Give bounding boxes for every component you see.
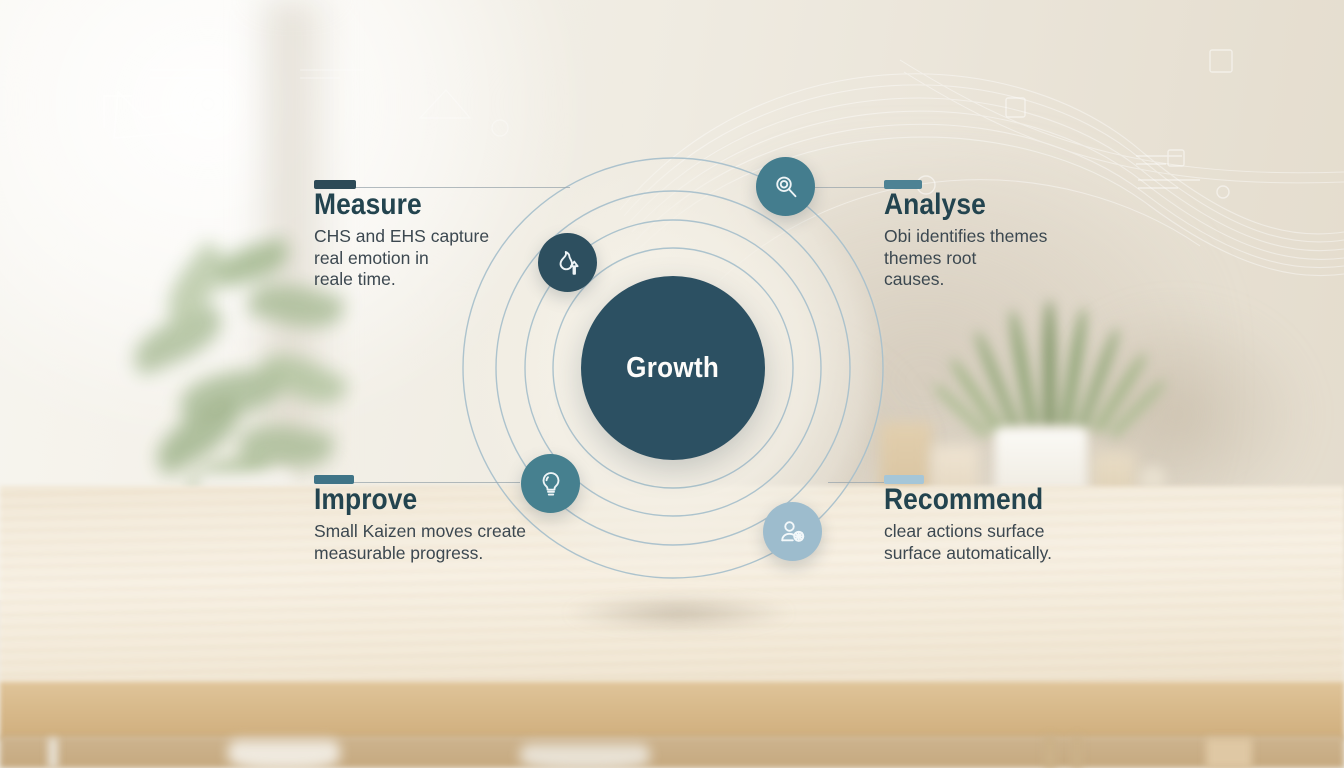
badge-improve[interactable] xyxy=(521,454,580,513)
callout-improve: Improve Small Kaizen moves create measur… xyxy=(314,475,526,564)
user-settings-icon xyxy=(778,517,808,547)
flame-growth-icon xyxy=(553,248,583,278)
callout-recommend: Recommend clear actions surface surface … xyxy=(884,475,1065,564)
callout-analyse: Analyse Obi identifies themes themes roo… xyxy=(884,180,1047,290)
callout-body-analyse: Obi identifies themes themes root causes… xyxy=(884,226,1047,290)
callout-title-measure: Measure xyxy=(314,189,468,220)
lightbulb-icon xyxy=(536,469,566,499)
badge-measure[interactable] xyxy=(538,233,597,292)
center-hub[interactable]: Growth xyxy=(581,276,765,460)
callout-measure: Measure CHS and EHS capture real emotion… xyxy=(314,180,489,290)
connector-recommend xyxy=(828,482,884,483)
callout-body-recommend: clear actions surface surface automatica… xyxy=(884,521,1065,564)
callout-title-analyse: Analyse xyxy=(884,189,1028,220)
infographic-canvas: Growth xyxy=(0,0,1344,768)
badge-recommend[interactable] xyxy=(763,502,822,561)
center-hub-label: Growth xyxy=(627,352,720,385)
callout-body-improve: Small Kaizen moves create measurable pro… xyxy=(314,521,526,564)
callout-title-recommend: Recommend xyxy=(884,484,1043,515)
search-icon xyxy=(771,172,801,202)
badge-analyse[interactable] xyxy=(756,157,815,216)
growth-cycle-diagram: Growth xyxy=(0,0,1344,768)
callout-body-measure: CHS and EHS capture real emotion in real… xyxy=(314,226,489,290)
callout-title-improve: Improve xyxy=(314,484,501,515)
